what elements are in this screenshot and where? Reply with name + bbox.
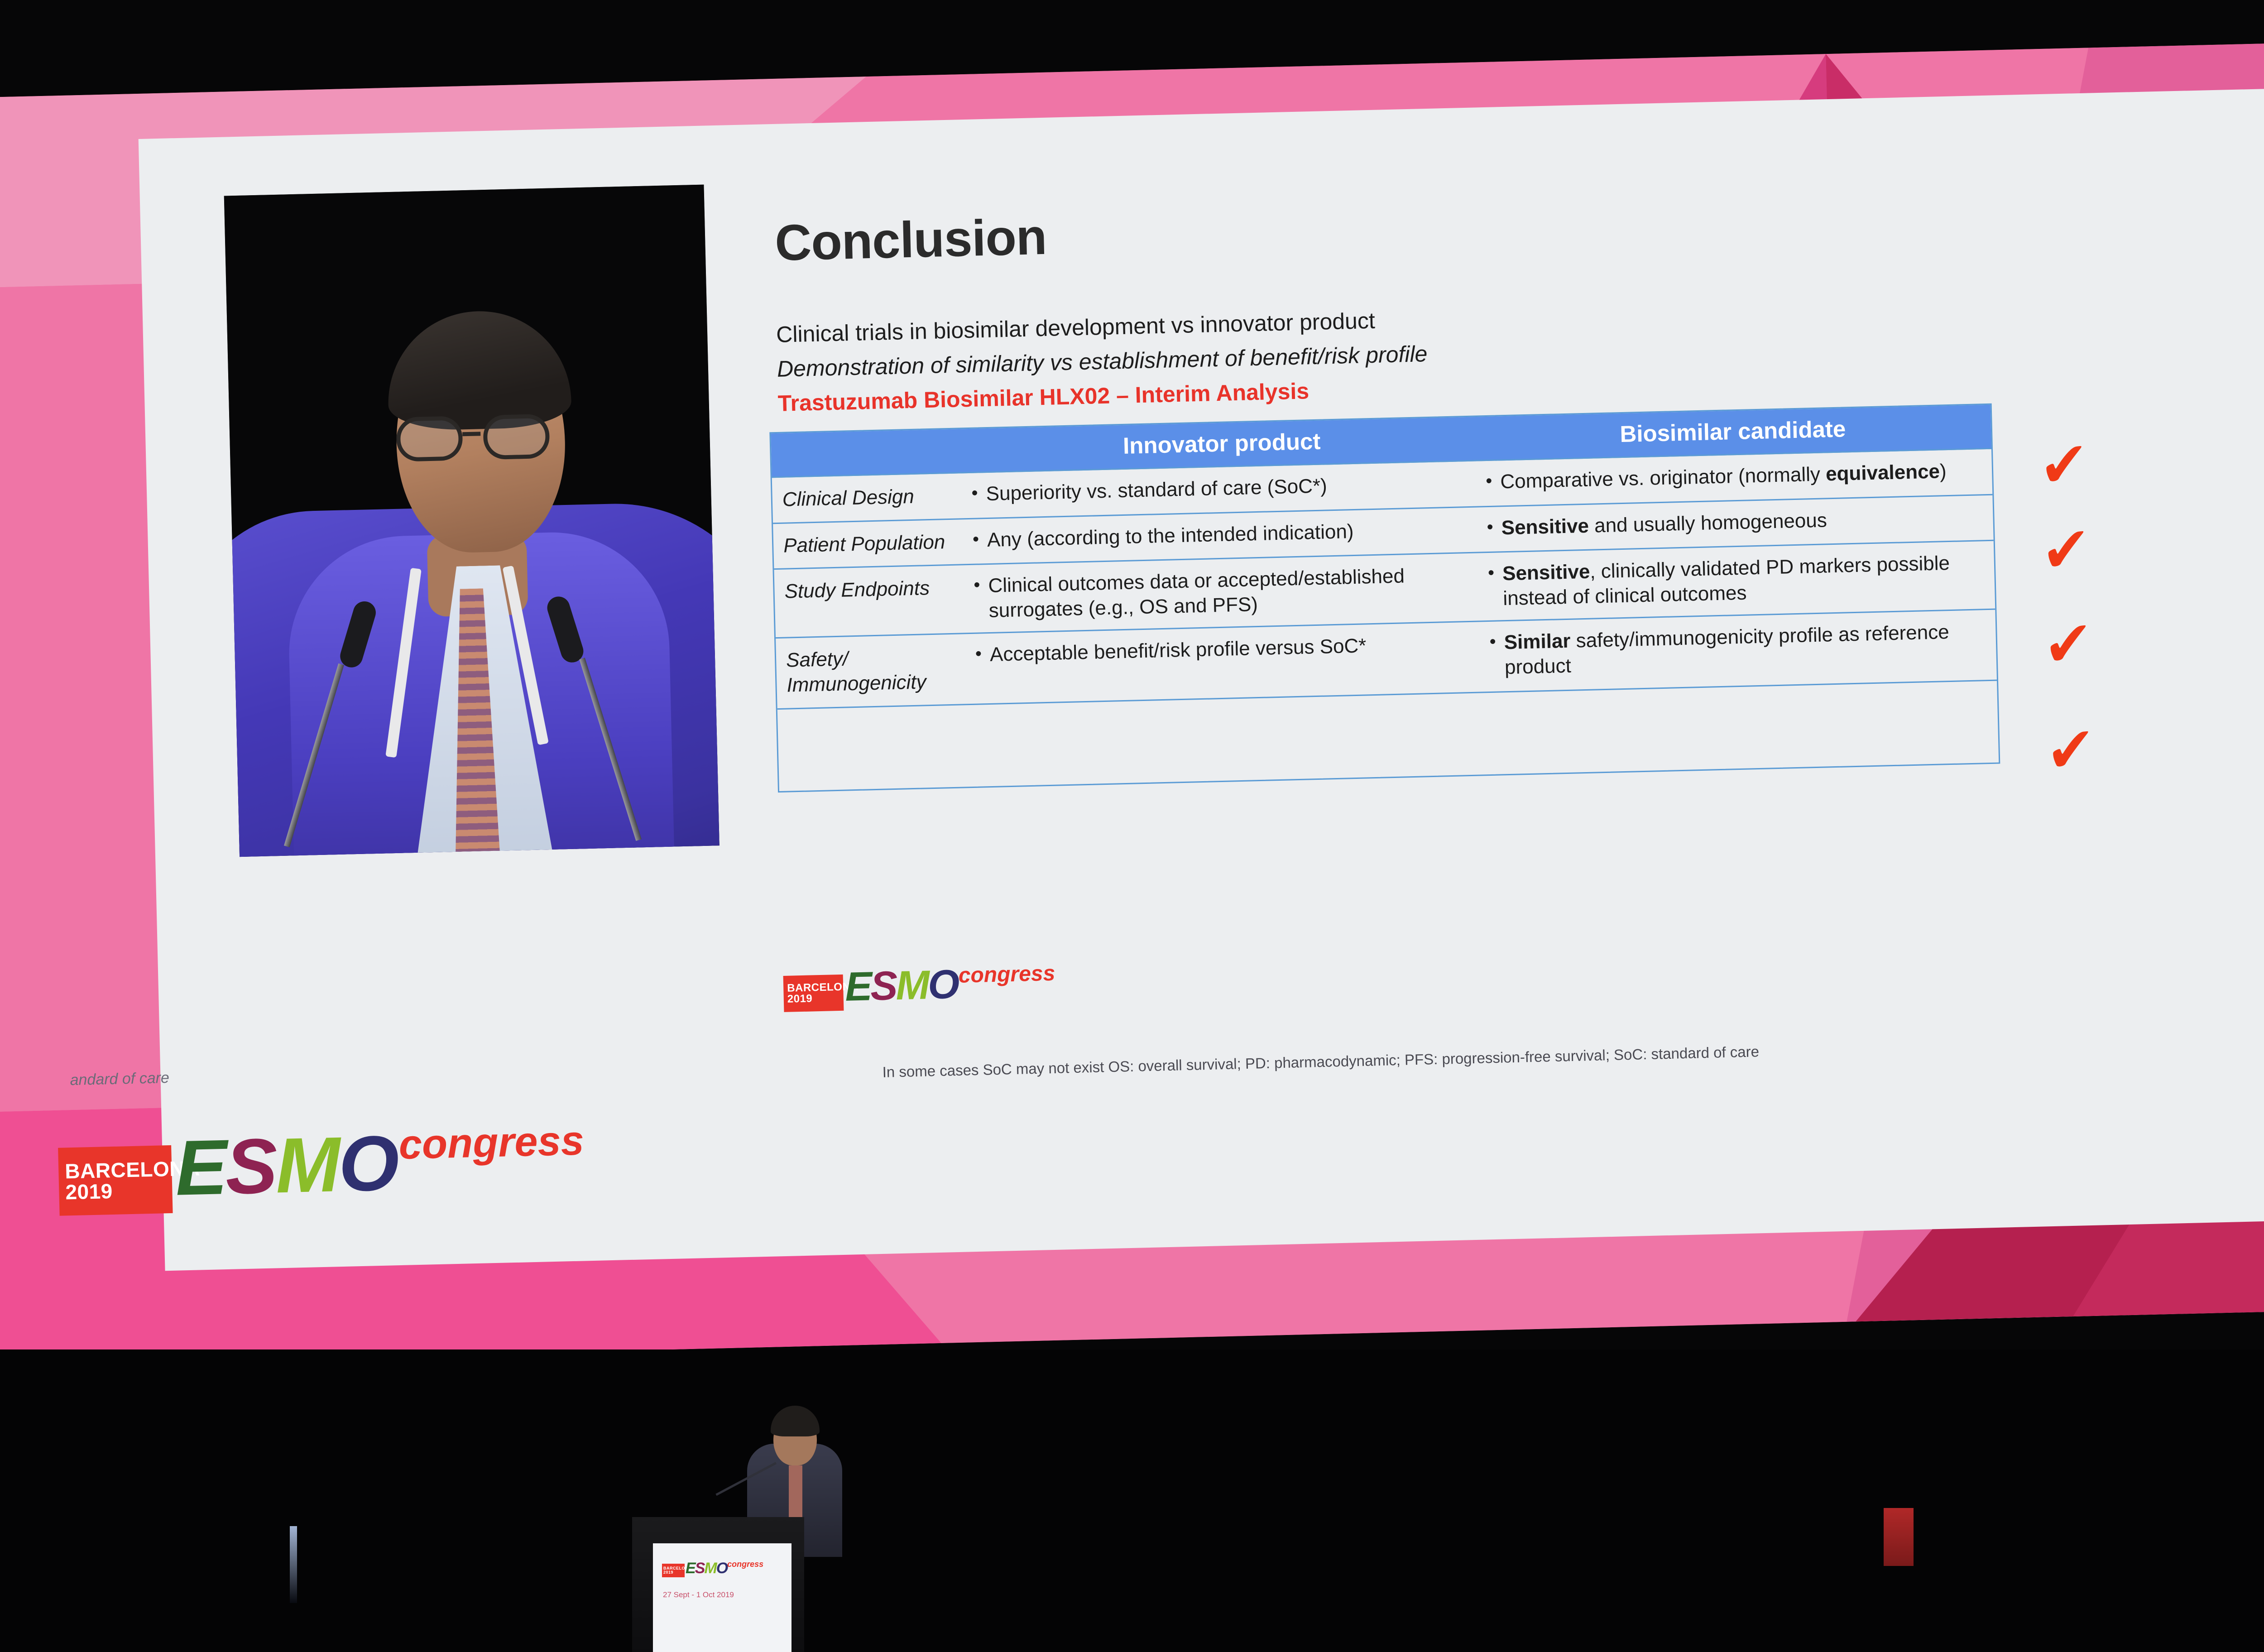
esmo-letter-o: O	[716, 1560, 727, 1577]
badge-city: BARCELONA	[65, 1158, 166, 1181]
esmo-wordmark-large: E S M O	[174, 1118, 398, 1213]
lectern: BARCELONA 2019 E S M O congress 27 Sept …	[632, 1517, 804, 1652]
esmo-letter-s: S	[225, 1121, 277, 1212]
badge-city: BARCELONA	[787, 982, 840, 994]
esmo-logo-small: BARCELONA 2019 E S M O congress	[783, 959, 1056, 1012]
lectern-dates: 27 Sept - 1 Oct 2019	[663, 1590, 734, 1599]
row-label: Safety/ Immunogenicity	[776, 634, 972, 708]
bullet-icon: •	[1487, 516, 1493, 541]
projection-screen: Conclusion Clinical trials in biosimilar…	[0, 39, 2264, 1410]
bio-text-bold: Similar	[1504, 630, 1571, 653]
auditorium-scene: Conclusion Clinical trials in biosimilar…	[0, 0, 2264, 1652]
subtitle-line-1: Clinical trials in biosimilar developmen…	[776, 307, 1376, 348]
bullet-icon: •	[971, 482, 978, 507]
bio-text-b: )	[1939, 460, 1947, 482]
esmo-logo-lectern: BARCELONA 2019 E S M O congress	[662, 1560, 763, 1577]
bio-text-b: safety/immunogenicity profile as referen…	[1504, 621, 1949, 678]
row-innovator-text: Any (according to the intended indicatio…	[987, 517, 1471, 553]
checkmark-icon-row-3: ✔	[2043, 618, 2098, 680]
esmo-letter-e: E	[174, 1122, 226, 1213]
esmo-letter-s: S	[695, 1560, 705, 1577]
slide-footnote: In some cases SoC may not exist OS: over…	[882, 1043, 1759, 1081]
exit-sign-light	[1884, 1508, 1914, 1566]
stage-floor-area: BARCELONA 2019 E S M O congress 27 Sept …	[0, 1349, 2264, 1652]
bullet-icon: •	[1488, 562, 1496, 611]
checkmark-icon-row-4: ✔	[2046, 724, 2101, 786]
row-innovator-text: Acceptable benefit/risk profile versus S…	[989, 631, 1473, 668]
esmo-letter-e: E	[844, 963, 871, 1010]
bullet-icon: •	[1489, 631, 1497, 680]
page-title: Conclusion	[774, 207, 1047, 272]
esmo-letter-e: E	[686, 1560, 695, 1577]
bullet-icon: •	[972, 528, 979, 553]
esmo-wordmark-small: E S M O	[844, 961, 958, 1011]
esmo-letter-m: M	[704, 1560, 716, 1577]
bio-text-b: and usually homogeneous	[1588, 509, 1827, 537]
esmo-logo-large: BARCELONA 2019 E S M O congress	[58, 1114, 585, 1215]
row-innovator-text: Clinical outcomes data or accepted/estab…	[988, 562, 1473, 623]
comparison-table: Innovator product Biosimilar candidate C…	[769, 403, 2000, 792]
row-innovator-cell: • Acceptable benefit/risk profile versus…	[970, 622, 1483, 704]
esmo-badge-small: BARCELONA 2019	[783, 975, 844, 1012]
row-innovator-text: Superiority vs. standard of care (SoC*)	[986, 471, 1470, 507]
badge-lectern: BARCELONA 2019	[662, 1564, 685, 1577]
esmo-letter-s: S	[870, 963, 896, 1010]
bullet-icon: •	[974, 574, 981, 624]
row-label: Patient Population	[773, 519, 969, 569]
subtitle-line-3-accent: Trastuzumab Biosimilar HLX02 – Interim A…	[777, 378, 1309, 417]
bio-text-a: Comparative vs. originator (normally	[1500, 463, 1826, 493]
bullet-icon: •	[975, 643, 982, 668]
slide-canvas: Conclusion Clinical trials in biosimilar…	[139, 89, 2264, 1271]
bullet-icon: •	[1486, 470, 1492, 495]
checkmark-icon-row-1: ✔	[2039, 439, 2094, 501]
esmo-letter-m: M	[895, 962, 928, 1009]
screen-surface: Conclusion Clinical trials in biosimilar…	[0, 38, 2264, 1365]
row-label: Study Endpoints	[774, 565, 970, 637]
esmo-letter-m: M	[274, 1119, 340, 1210]
stage-floor-light	[290, 1526, 297, 1603]
esmo-badge-large: BARCELONA 2019	[58, 1145, 173, 1216]
row-biosimilar-cell: • Similar safety/immunogenicity profile …	[1482, 610, 1994, 692]
esmo-letter-o: O	[927, 961, 958, 1009]
lectern-branding-panel: BARCELONA 2019 E S M O congress 27 Sept …	[653, 1543, 791, 1652]
esmo-letter-o: O	[338, 1118, 398, 1209]
previous-slide-edge-text: andard of care	[70, 1069, 169, 1089]
row-biosimilar-cell: • Sensitive, clinically validated PD mar…	[1480, 541, 1992, 621]
esmo-suffix-large: congress	[398, 1117, 585, 1169]
badge-year: 2019	[663, 1570, 683, 1575]
badge-year: 2019	[787, 993, 840, 1005]
bio-text-bold: Sensitive	[1501, 515, 1589, 539]
badge-year: 2019	[65, 1179, 166, 1202]
row-innovator-cell: • Clinical outcomes data or accepted/est…	[969, 553, 1482, 633]
header-cell-blank	[771, 429, 966, 476]
checkmark-icon-row-2: ✔	[2041, 524, 2096, 586]
speaker-video-inset	[224, 185, 719, 857]
live-speaker-at-lectern	[738, 1389, 851, 1525]
bio-text-bold: equivalence	[1826, 461, 1940, 485]
esmo-wordmark-lectern: E S M O	[686, 1560, 727, 1577]
subtitle-line-2: Demonstration of similarity vs establish…	[777, 341, 1428, 382]
row-label: Clinical Design	[772, 473, 968, 523]
bio-text-bold: Sensitive	[1502, 561, 1590, 585]
esmo-suffix-small: congress	[958, 961, 1055, 988]
esmo-suffix-lectern: congress	[727, 1560, 763, 1569]
